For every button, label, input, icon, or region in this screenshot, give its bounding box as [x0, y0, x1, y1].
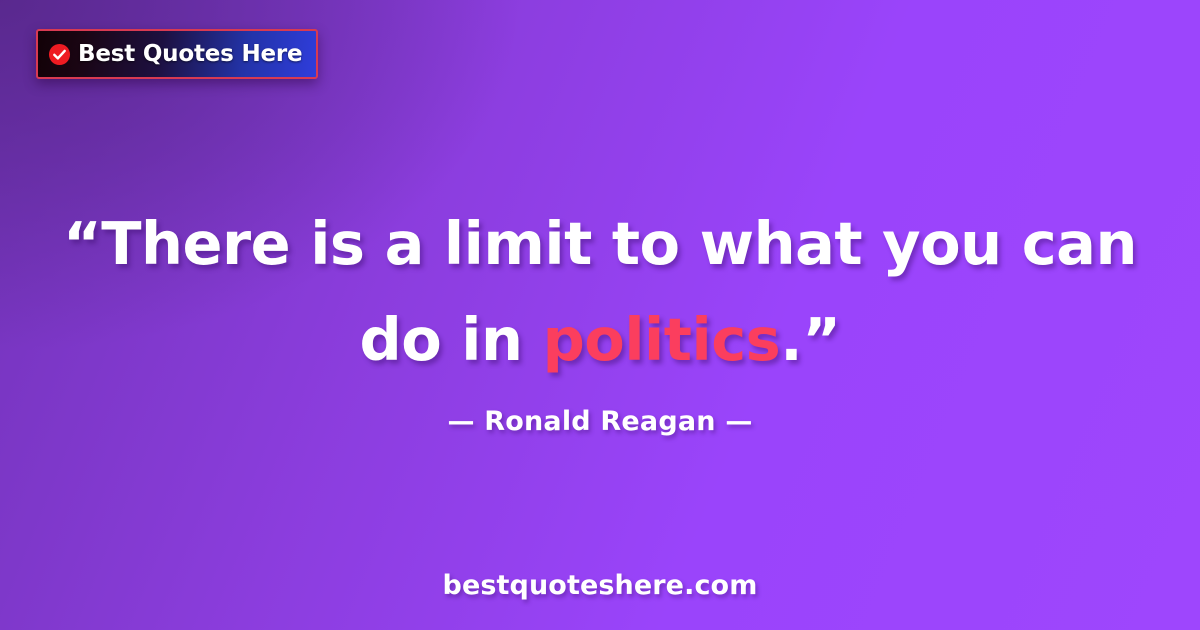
quote-attribution: — Ronald Reagan —: [0, 406, 1200, 437]
quote-line-2-prefix: do in: [359, 305, 542, 374]
brand-badge[interactable]: Best Quotes Here: [36, 29, 318, 79]
quote-poster: Best Quotes Here “There is a limit to wh…: [0, 0, 1200, 630]
brand-badge-label: Best Quotes Here: [78, 43, 302, 66]
brand-badge-inner[interactable]: Best Quotes Here: [36, 29, 318, 79]
quote-line-2: do in politics.”: [60, 292, 1140, 388]
quote-highlight-word: politics: [543, 305, 781, 374]
quote-line-1: “There is a limit to what you can: [60, 196, 1140, 292]
quote-text-block: “There is a limit to what you can do in …: [0, 196, 1200, 388]
check-circle-icon: [48, 43, 71, 66]
site-url-footer: bestquoteshere.com: [0, 570, 1200, 601]
quote-line-2-suffix: .”: [780, 305, 840, 374]
